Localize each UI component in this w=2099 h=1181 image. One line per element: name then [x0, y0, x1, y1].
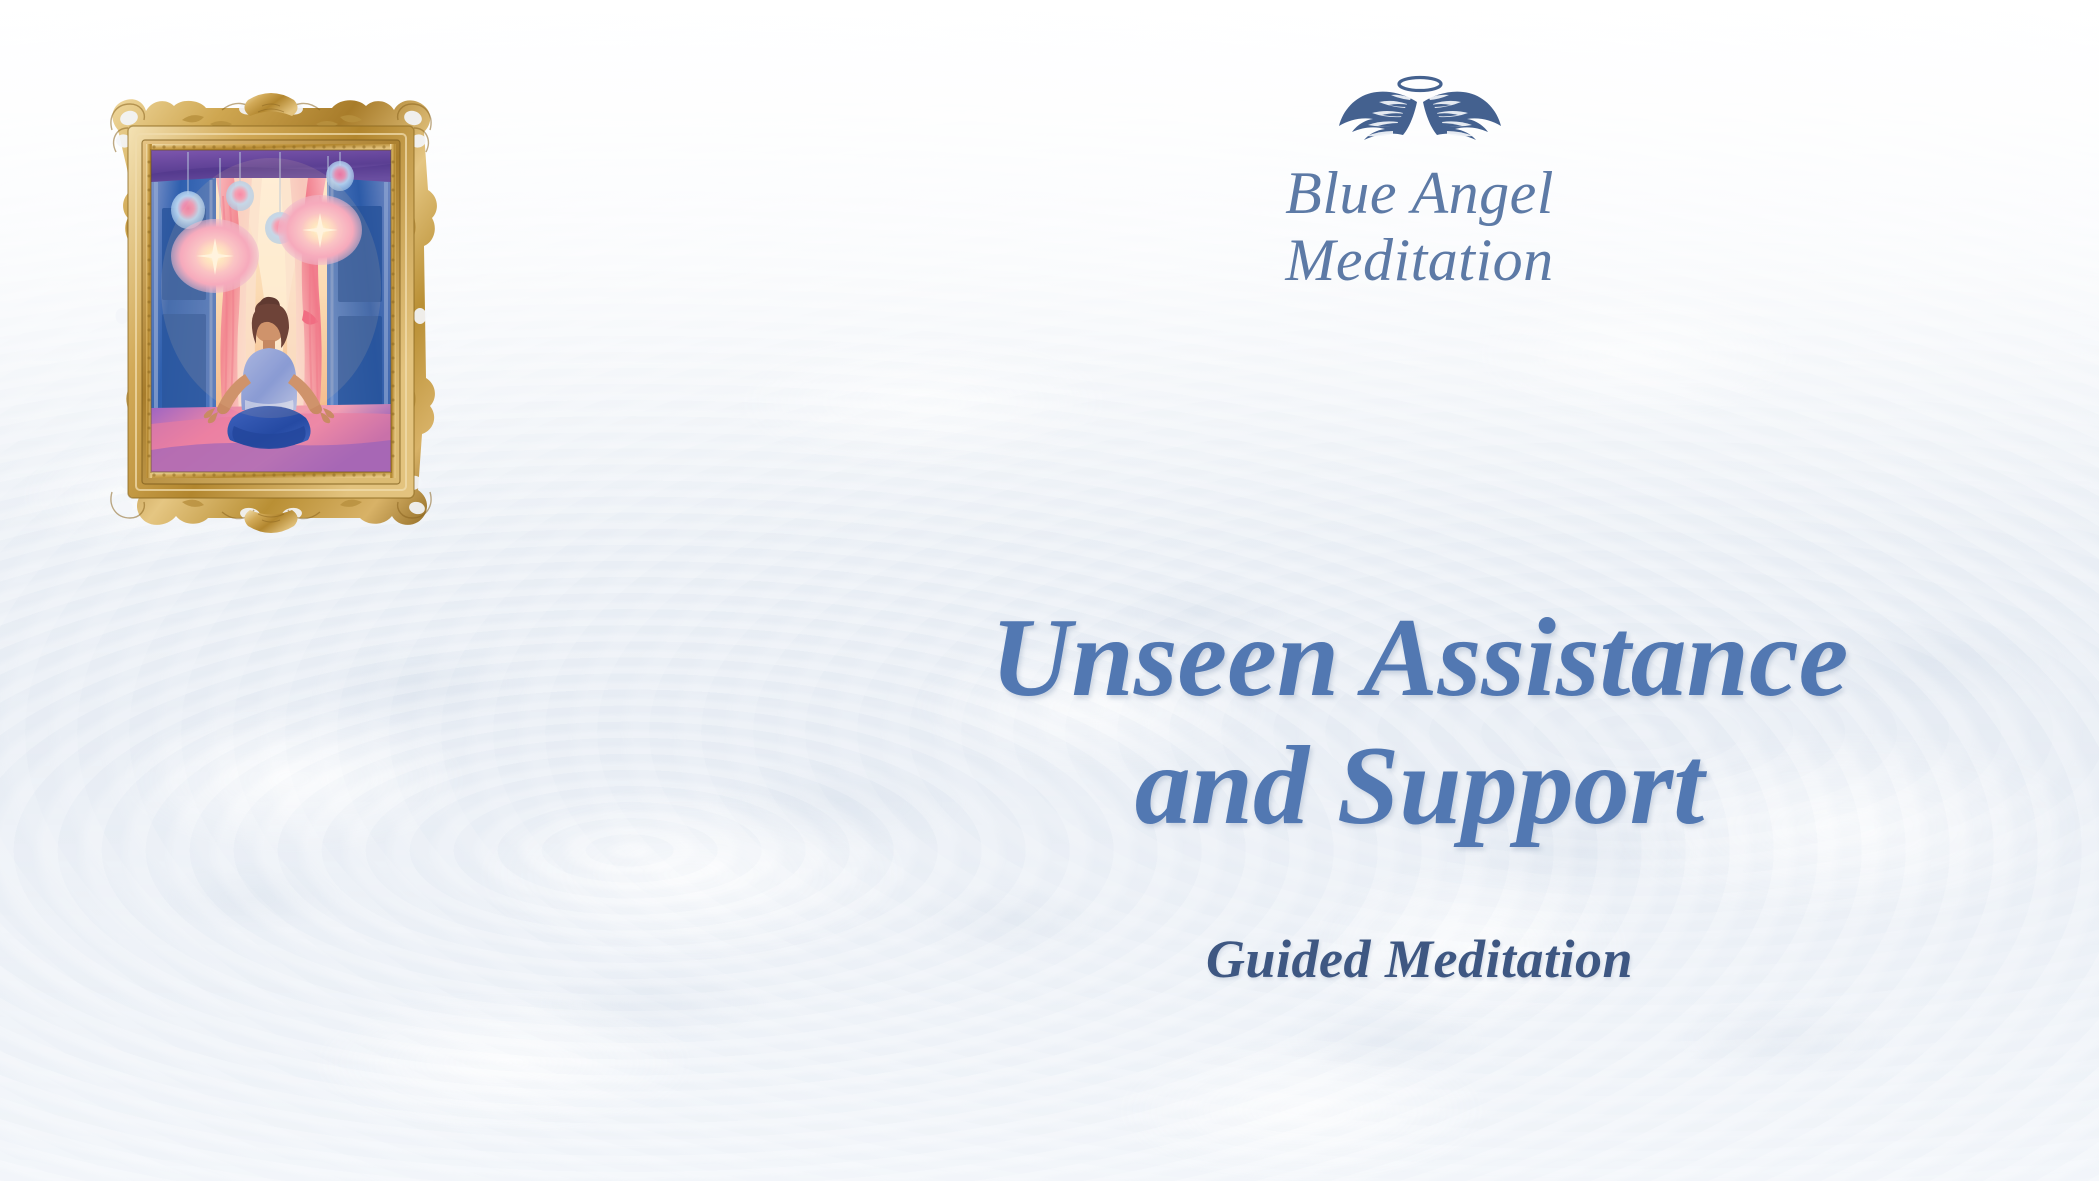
left-wing	[1339, 92, 1417, 140]
page-title-line-1: Unseen Assistance	[740, 595, 2099, 723]
page-title-line-2: and Support	[740, 723, 2099, 851]
page-subtitle: Guided Meditation	[740, 930, 2099, 989]
angel-wings-halo-icon	[1335, 72, 1505, 144]
framed-artwork-svg	[82, 78, 460, 544]
brand-line-1: Blue Angel	[740, 160, 2099, 227]
page-title: Unseen Assistance and Support	[740, 595, 2099, 850]
halo-ring	[1399, 78, 1441, 91]
painting-canvas	[151, 150, 391, 472]
framed-artwork	[82, 78, 460, 544]
brand-line-2: Meditation	[740, 227, 2099, 294]
banner-canvas: Blue Angel Meditation Unseen Assistance …	[0, 0, 2099, 1181]
brand-name: Blue Angel Meditation	[740, 160, 2099, 294]
right-wing	[1423, 92, 1501, 140]
banner-content: Blue Angel Meditation Unseen Assistance …	[740, 0, 2099, 1181]
